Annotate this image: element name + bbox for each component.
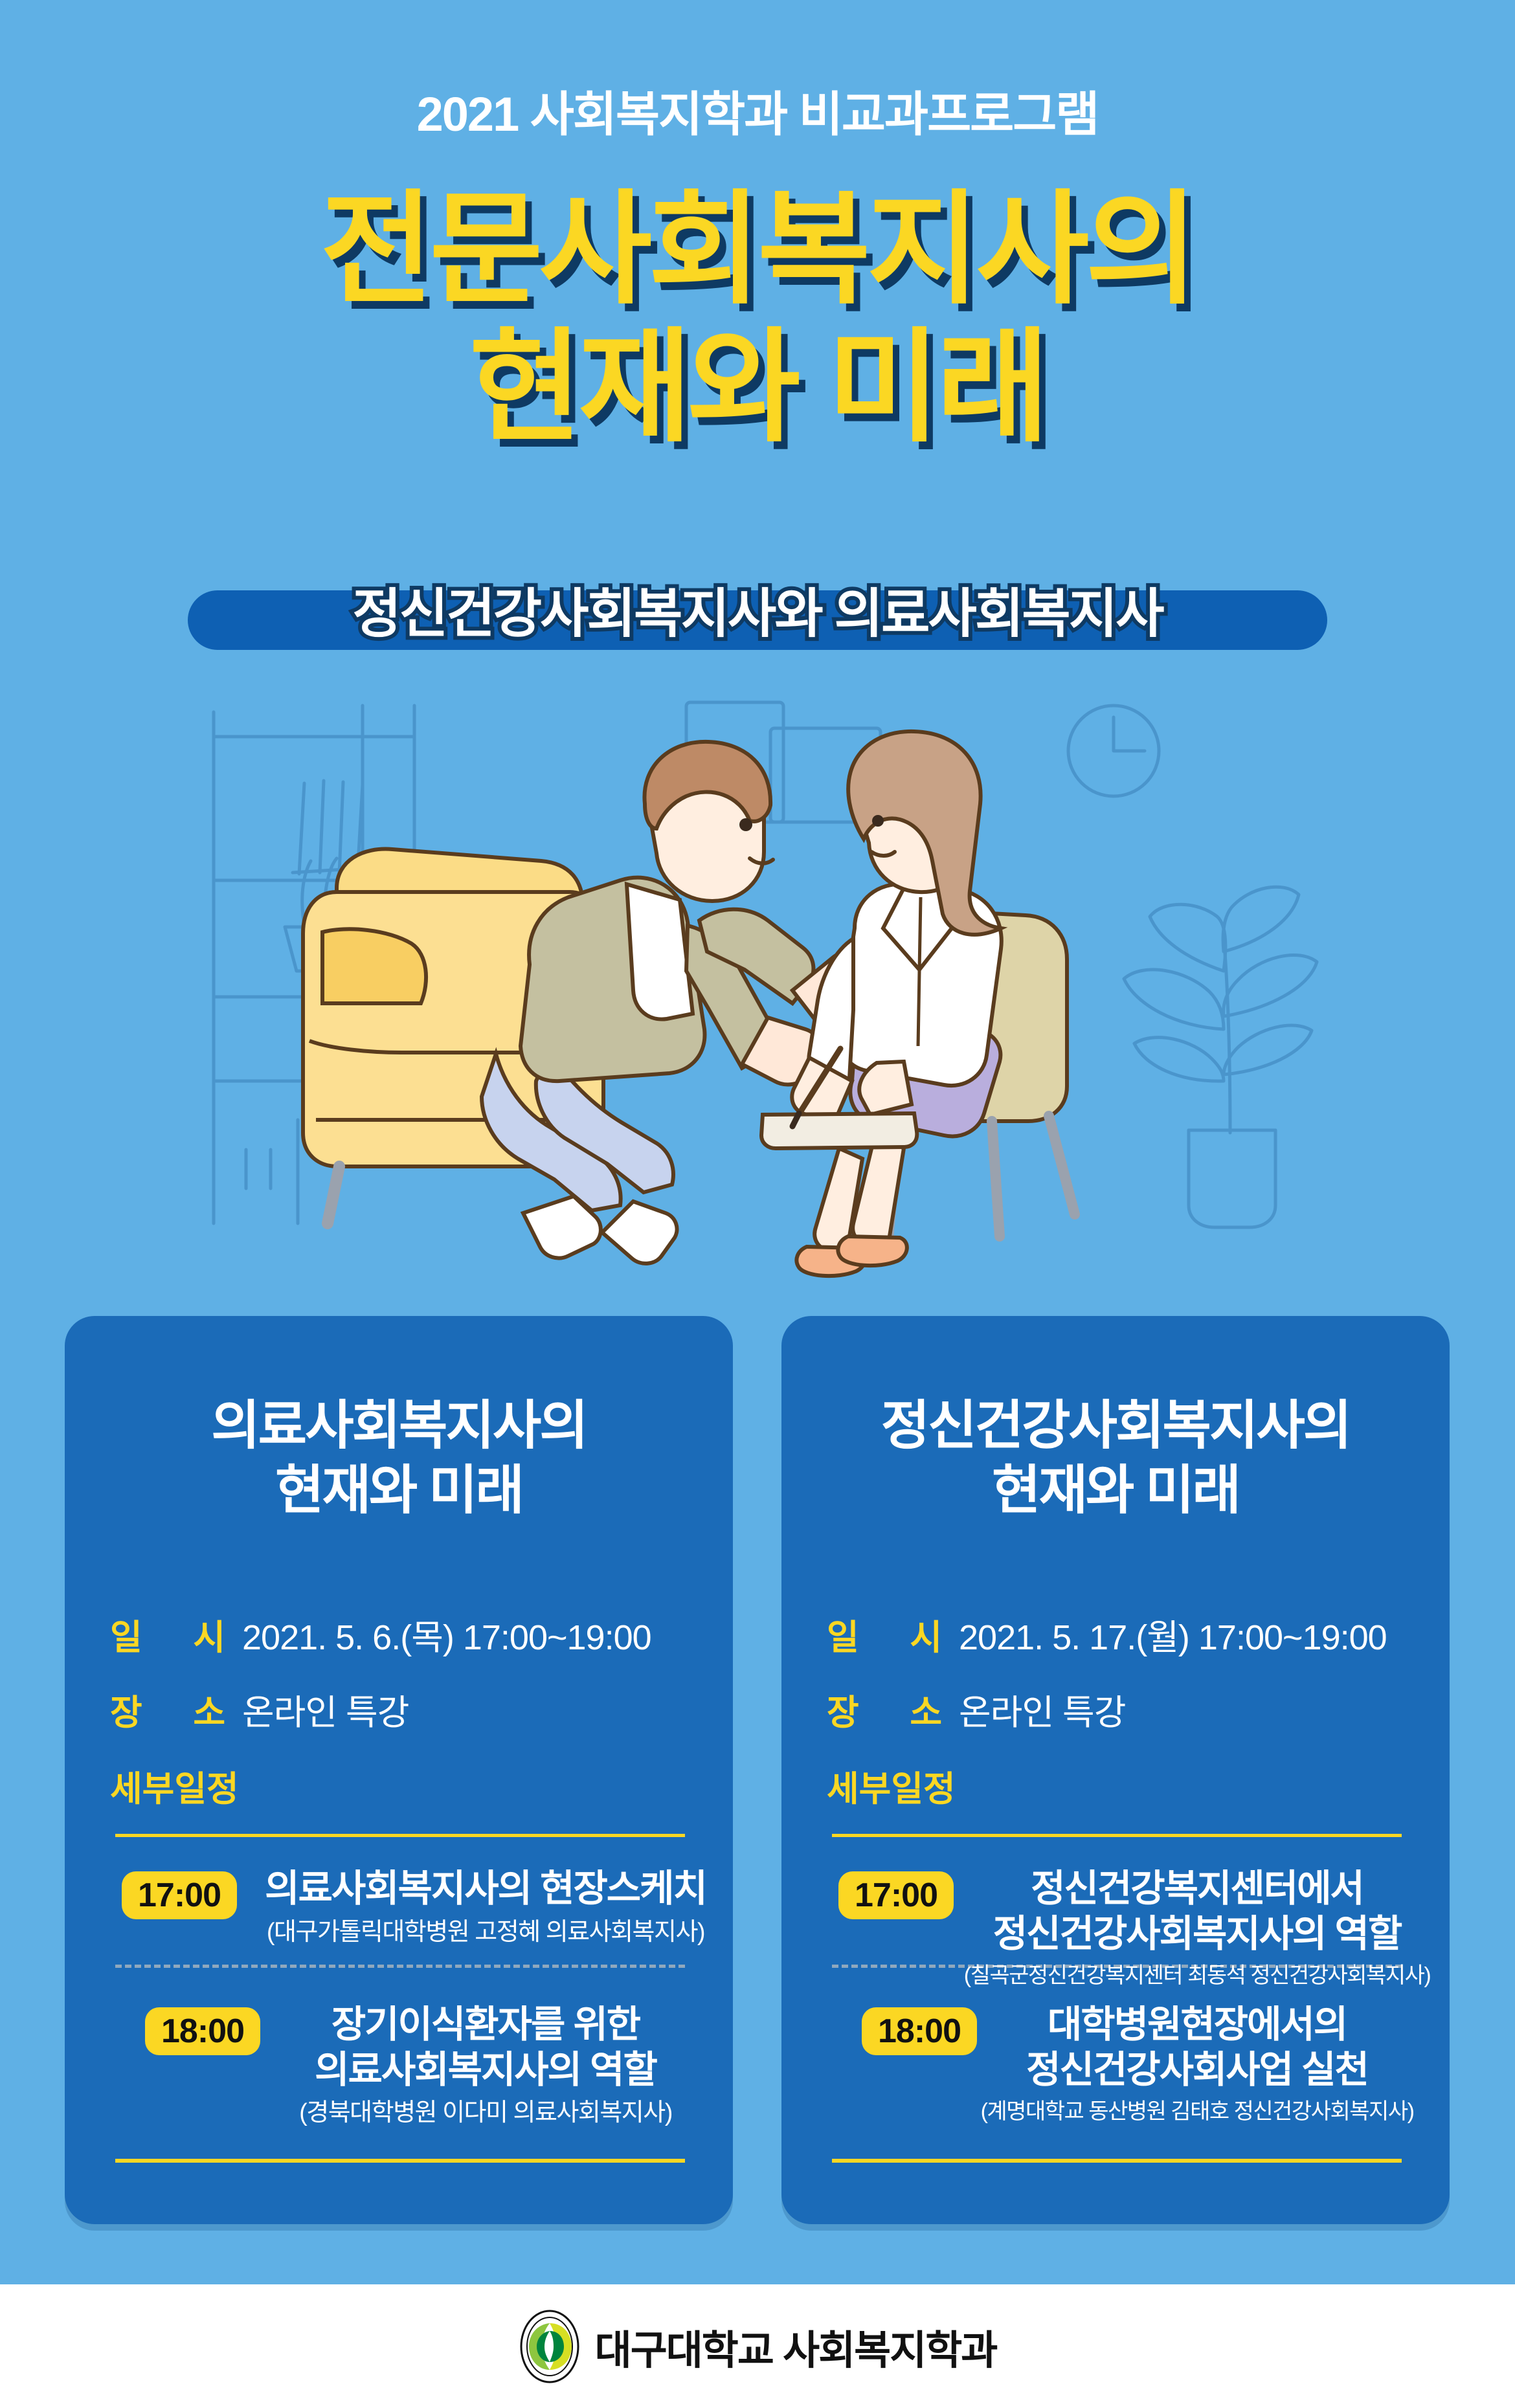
meta-key-location-2: 소 (864, 1684, 942, 1735)
meta-row-datetime: 일 시 2021. 5. 17.(월) 17:00~19:00 (827, 1609, 1416, 1660)
meta-key-location-2: 소 (148, 1684, 225, 1735)
footer: 대구대학교 사회복지학과 (0, 2284, 1515, 2408)
card-title-line-1: 정신건강사회복지사의 (781, 1394, 1450, 1458)
schedule-rule-top (832, 1834, 1402, 1837)
meta-key-datetime-2: 시 (148, 1609, 225, 1660)
card-medical-social-worker: 의료사회복지사의 현재와 미래 일 시 2021. 5. 6.(목) 17:00… (65, 1316, 733, 2224)
session-title-line: 의료사회복지사의 현장스케치 (259, 1866, 712, 1912)
poster-root: 2021 사회복지학과 비교과프로그램 전문사회복지사의 현재와 미래 정신건강… (0, 0, 1515, 2408)
session-time-badge: 18:00 (145, 2007, 260, 2055)
kicker-text: 2021 사회복지학과 비교과프로그램 (0, 91, 1515, 139)
session-title-line: 정신건강사회사업 실천 (958, 2047, 1437, 2093)
session-body: 의료사회복지사의 현장스케치 (대구가톨릭대학병원 고정혜 의료사회복지사) (259, 1866, 712, 1947)
schedule-rule-bottom (115, 2159, 685, 2163)
footer-organization: 대구대학교 사회복지학과 (595, 2317, 997, 2376)
subtitle-text: 정신건강사회복지사와 의료사회복지사 (352, 570, 1162, 647)
session-time-badge: 17:00 (122, 1871, 237, 1919)
session-speaker: (계명대학교 동산병원 김태호 정신건강사회복지사) (958, 2099, 1437, 2125)
card-title: 의료사회복지사의 현재와 미래 (65, 1394, 733, 1523)
meta-key-datetime-1: 일 (110, 1609, 148, 1660)
counseling-illustration (0, 667, 1515, 1288)
session-time-badge: 17:00 (838, 1871, 954, 1919)
card-title-line-2: 현재와 미래 (781, 1458, 1450, 1523)
session-title-line: 정신건강복지센터에서 (958, 1866, 1437, 1912)
meta-key-datetime-2: 시 (864, 1609, 942, 1660)
session-body: 대학병원현장에서의 정신건강사회사업 실천 (계명대학교 동산병원 김태호 정신… (958, 2002, 1437, 2125)
session-body: 장기이식환자를 위한 의료사회복지사의 역할 (경북대학병원 이다미 의료사회복… (259, 2002, 712, 2128)
schedule-rule-top (115, 1834, 685, 1837)
card-title-line-1: 의료사회복지사의 (65, 1394, 733, 1458)
subtitle-banner: 정신건강사회복지사와 의료사회복지사 (0, 557, 1515, 660)
meta-row-location: 장 소 온라인 특강 (110, 1684, 699, 1735)
session-title-line: 의료사회복지사의 역할 (259, 2047, 712, 2093)
meta-key-datetime-1: 일 (827, 1609, 864, 1660)
session-speaker: (경북대학병원 이다미 의료사회복지사) (259, 2099, 712, 2128)
footer-logo-row: 대구대학교 사회복지학과 (519, 2309, 997, 2384)
session-title-line: 대학병원현장에서의 (958, 2002, 1437, 2047)
meta-key-location-1: 장 (827, 1684, 864, 1735)
card-title-line-2: 현재와 미래 (65, 1458, 733, 1523)
meta-row-datetime: 일 시 2021. 5. 6.(목) 17:00~19:00 (110, 1609, 699, 1660)
session-title-line: 장기이식환자를 위한 (259, 2002, 712, 2047)
session-speaker: (칠곡군정신건강복지센터 최동석 정신건강사회복지사) (958, 1963, 1437, 1989)
session-cards: 의료사회복지사의 현재와 미래 일 시 2021. 5. 6.(목) 17:00… (0, 1316, 1515, 2224)
meta-value-location: 온라인 특강 (242, 1684, 409, 1735)
daegu-university-emblem-icon (519, 2309, 581, 2384)
session-title-line: 정신건강사회복지사의 역할 (958, 1912, 1437, 1957)
card-title: 정신건강사회복지사의 현재와 미래 (781, 1394, 1450, 1523)
meta-value-datetime: 2021. 5. 6.(목) 17:00~19:00 (242, 1609, 651, 1660)
schedule-rule-bottom (832, 2159, 1402, 2163)
session-body: 정신건강복지센터에서 정신건강사회복지사의 역할 (칠곡군정신건강복지센터 최동… (958, 1866, 1437, 1989)
meta-value-datetime: 2021. 5. 17.(월) 17:00~19:00 (959, 1609, 1387, 1660)
meta-value-location: 온라인 특강 (959, 1684, 1125, 1735)
schedule-rule-dashed (115, 1965, 685, 1968)
schedule-label: 세부일정 (110, 1760, 239, 1811)
meta-row-location: 장 소 온라인 특강 (827, 1684, 1416, 1735)
main-title-line-2: 현재와 미래 (0, 319, 1515, 457)
session-speaker: (대구가톨릭대학병원 고정혜 의료사회복지사) (259, 1918, 712, 1948)
card-mental-health-social-worker: 정신건강사회복지사의 현재와 미래 일 시 2021. 5. 17.(월) 17… (781, 1316, 1450, 2224)
schedule-label: 세부일정 (827, 1760, 956, 1811)
main-title: 전문사회복지사의 현재와 미래 (0, 181, 1515, 457)
main-title-line-1: 전문사회복지사의 (0, 181, 1515, 319)
meta-key-location-1: 장 (110, 1684, 148, 1735)
